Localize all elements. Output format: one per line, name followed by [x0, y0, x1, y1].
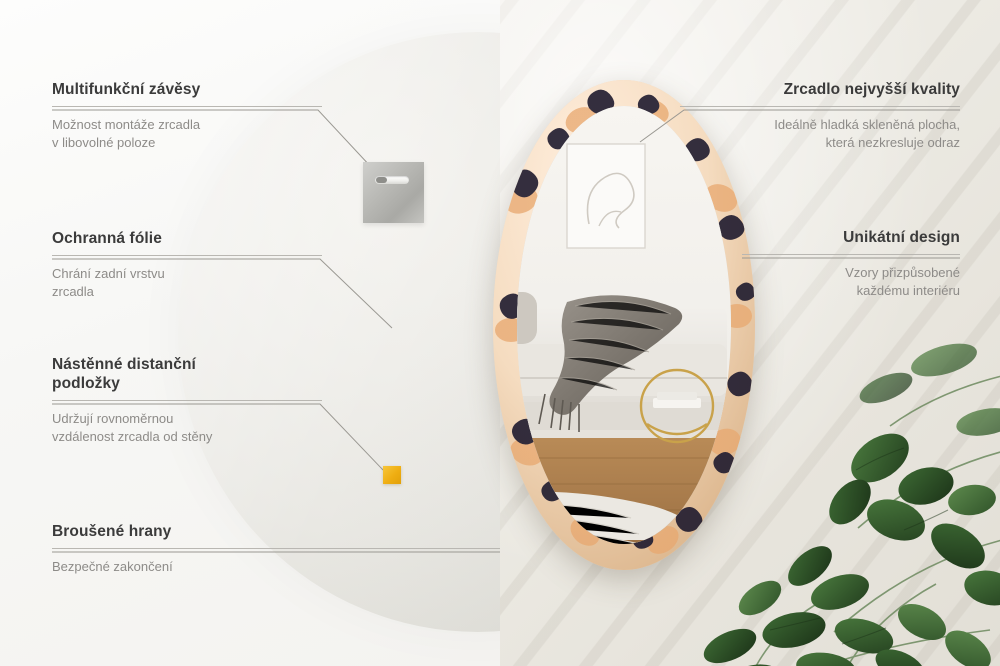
callout-description: Chrání zadní vrstvu zrcadla — [52, 265, 322, 301]
callout-unikatni-design: Unikátní design Vzory přizpůsobené každé… — [680, 228, 960, 300]
callout-divider — [742, 254, 960, 255]
hanger-plate-marker — [363, 162, 424, 223]
spacer-pad-marker — [383, 466, 401, 484]
callout-title: Nástěnné distanční podložky — [52, 355, 322, 393]
callout-description: Udržují rovnoměrnou vzdálenost zrcadla o… — [52, 410, 322, 446]
callout-description: Možnost montáže zrcadla v libovolné polo… — [52, 116, 322, 152]
infographic-canvas: Multifunkční závěsy Možnost montáže zrca… — [0, 0, 1000, 666]
callout-nastenne-distancni-podlozky: Nástěnné distanční podložky Udržují rovn… — [52, 355, 322, 446]
callout-divider — [52, 548, 500, 549]
mirror-glass-reflection — [517, 106, 731, 544]
callout-zrcadlo-nejvyssi-kvality: Zrcadlo nejvyšší kvality Ideálně hladká … — [680, 80, 960, 152]
callout-divider — [52, 400, 322, 401]
callout-brousene-hrany: Broušené hrany Bezpečné zakončení — [52, 522, 500, 576]
callout-title: Zrcadlo nejvyšší kvality — [680, 80, 960, 99]
callout-title: Unikátní design — [680, 228, 960, 247]
callout-divider — [680, 106, 960, 107]
callout-description: Vzory přizpůsobené každému interiéru — [680, 264, 960, 300]
callout-title: Ochranná fólie — [52, 229, 322, 248]
round-mirror — [493, 80, 755, 570]
callout-title: Multifunkční závěsy — [52, 80, 322, 99]
keyhole-slot-icon — [375, 176, 409, 184]
callout-ochranna-folie: Ochranná fólie Chrání zadní vrstvu zrcad… — [52, 229, 322, 301]
callout-description: Ideálně hladká skleněná plocha, která ne… — [680, 116, 960, 152]
reflected-interior-scene — [517, 106, 731, 544]
callout-divider — [52, 255, 322, 256]
callout-divider — [52, 106, 322, 107]
callout-multifunkcni-zavesy: Multifunkční závěsy Možnost montáže zrca… — [52, 80, 322, 152]
callout-title: Broušené hrany — [52, 522, 500, 541]
callout-description: Bezpečné zakončení — [52, 558, 500, 576]
